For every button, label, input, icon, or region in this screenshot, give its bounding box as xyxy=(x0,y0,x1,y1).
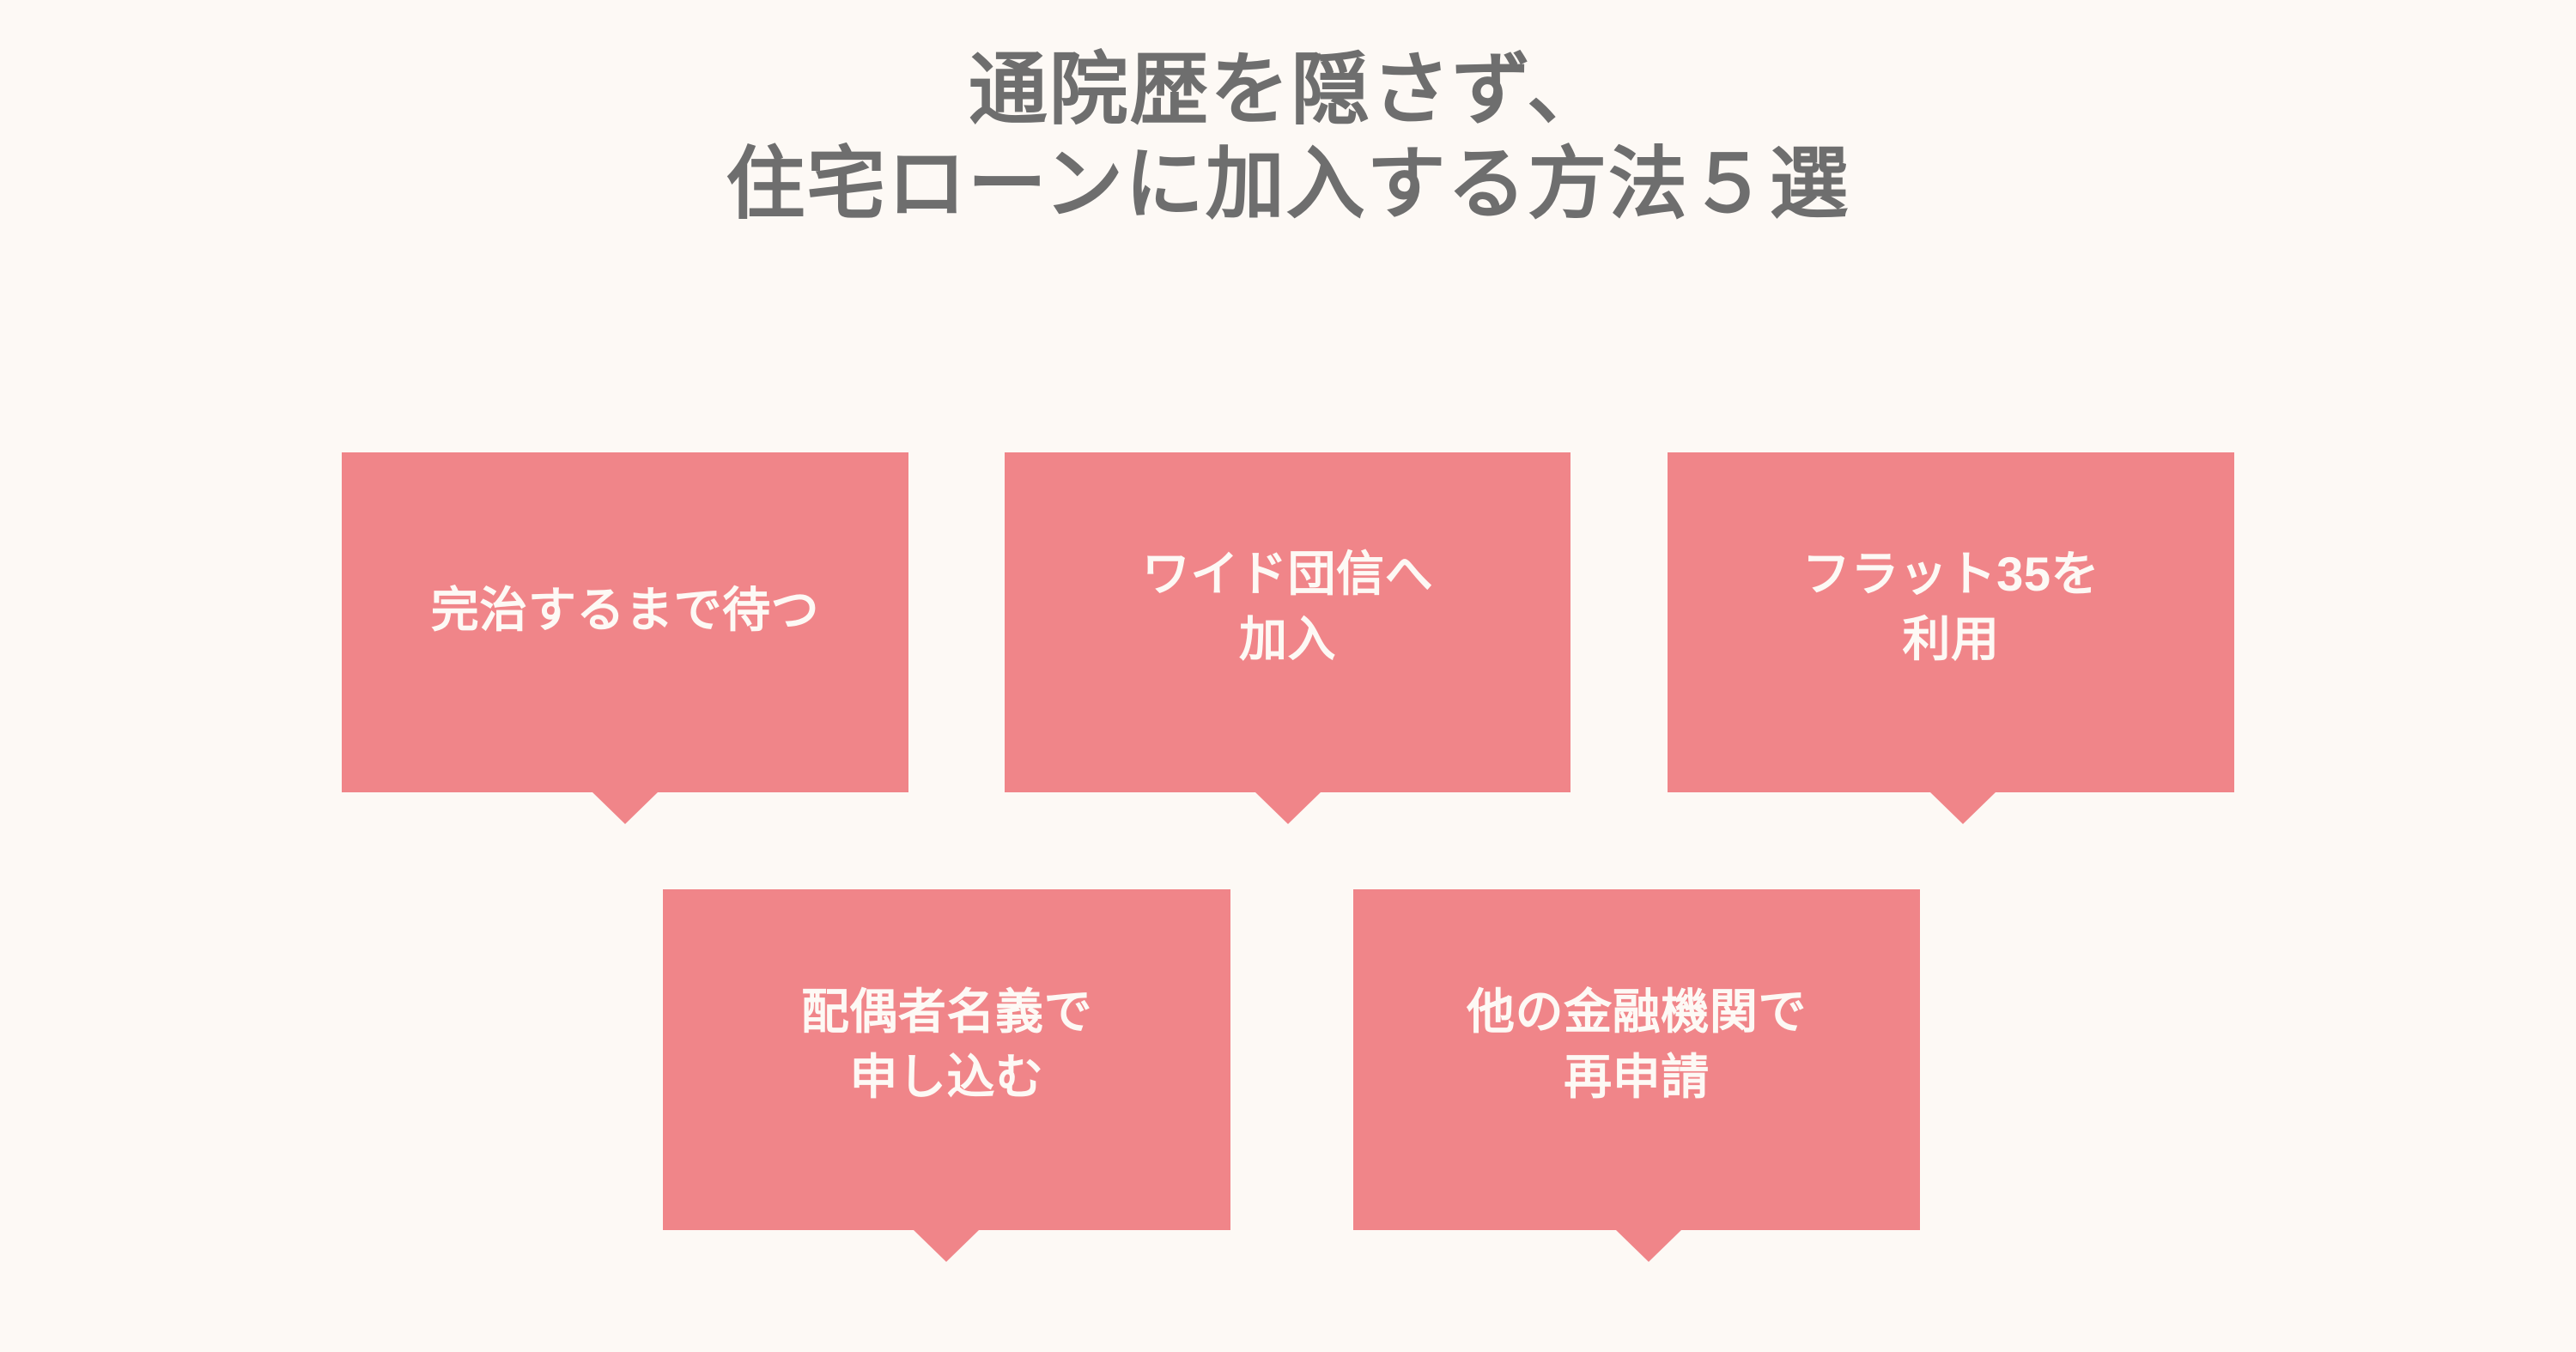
callout-box-5: 他の金融機関で 再申請 xyxy=(1353,889,1920,1230)
callout-box-4-label: 配偶者名義で 申し込む xyxy=(793,979,1101,1110)
callout-tail-5 xyxy=(1616,1230,1681,1262)
callout-box-2-label: ワイド団信へ 加入 xyxy=(1133,542,1442,672)
callout-tail-4 xyxy=(914,1230,979,1262)
callout-tail-2 xyxy=(1255,792,1321,824)
callout-box-2: ワイド団信へ 加入 xyxy=(1005,452,1571,792)
callout-box-3-label: フラット35を 利用 xyxy=(1794,542,2108,672)
callout-box-4: 配偶者名義で 申し込む xyxy=(663,889,1230,1230)
callout-box-5-label: 他の金融機関で 再申請 xyxy=(1458,979,1815,1110)
page-title-line-1: 通院歴を隠さず、 xyxy=(0,43,2576,137)
page-title: 通院歴を隠さず、 住宅ローンに加入する方法５選 xyxy=(0,43,2576,232)
callout-tail-3 xyxy=(1930,792,1996,824)
infographic-canvas: 通院歴を隠さず、 住宅ローンに加入する方法５選 完治するまで待つ ワイド団信へ … xyxy=(0,0,2576,1352)
callout-box-1-label: 完治するまで待つ xyxy=(422,578,828,643)
page-title-line-2: 住宅ローンに加入する方法５選 xyxy=(0,137,2576,232)
callout-tail-1 xyxy=(592,792,658,824)
callout-box-3: フラット35を 利用 xyxy=(1668,452,2234,792)
callout-box-1: 完治するまで待つ xyxy=(342,452,908,792)
